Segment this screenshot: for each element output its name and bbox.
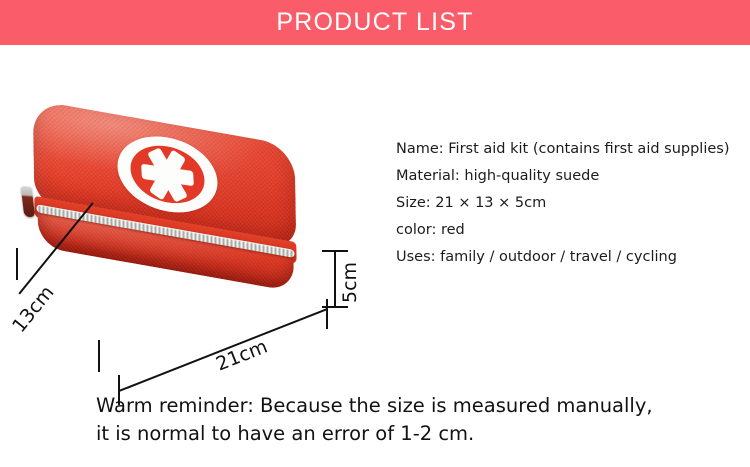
page-title: PRODUCT LIST [0,0,750,45]
height-dimension-label: 5cm [339,262,361,303]
height-dimension-cap-bottom [322,306,348,308]
header-banner: PRODUCT LIST [0,0,750,45]
warm-reminder-line-1: Warm reminder: Because the size is measu… [96,392,696,420]
product-image: 13cm 21cm 5cm [0,45,390,375]
depth-dimension-cap-end [98,340,100,372]
warm-reminder-line-2: it is normal to have an error of 1-2 cm. [96,420,696,448]
product-spec-list: Name: First aid kit (contains first aid … [396,136,736,271]
spec-material: Material: high-quality suede [396,163,736,190]
warm-reminder: Warm reminder: Because the size is measu… [96,392,696,448]
spec-size: Size: 21 × 13 × 5cm [396,190,736,217]
spec-uses: Uses: family / outdoor / travel / cyclin… [396,244,736,271]
depth-dimension-label: 13cm [8,282,59,337]
spec-name: Name: First aid kit (contains first aid … [396,136,736,163]
zipper-pull-icon [21,186,36,217]
spec-color: color: red [396,217,736,244]
emblem-star [139,150,195,198]
first-aid-case [33,100,298,307]
width-dimension-cap-end [326,299,328,329]
height-dimension-line [334,250,336,308]
depth-dimension-cap-start [16,248,18,280]
